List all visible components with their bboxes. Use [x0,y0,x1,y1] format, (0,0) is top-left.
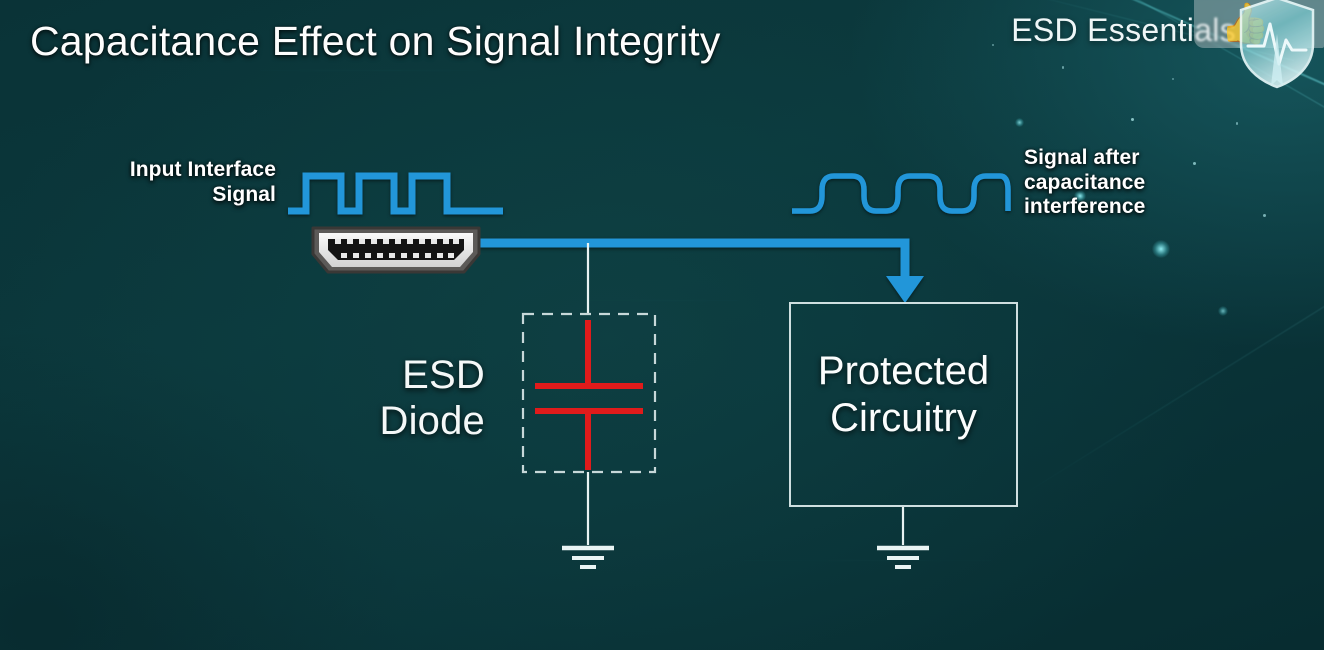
circuit-diagram [0,0,1324,650]
signal-trace-arrow [478,243,924,303]
slide-canvas: Capacitance Effect on Signal Integrity E… [0,0,1324,650]
ground-symbol-icon [877,548,929,567]
capacitor-symbol-icon [535,320,643,470]
hdmi-connector-icon [308,224,484,276]
input-square-wave [288,176,503,211]
protected-label-line2: Circuitry [789,395,1018,442]
ground-symbol-icon [562,548,614,567]
protected-circuitry-label: Protected Circuitry [789,348,1018,442]
output-rounded-wave [792,176,1008,211]
protected-label-line1: Protected [789,348,1018,395]
